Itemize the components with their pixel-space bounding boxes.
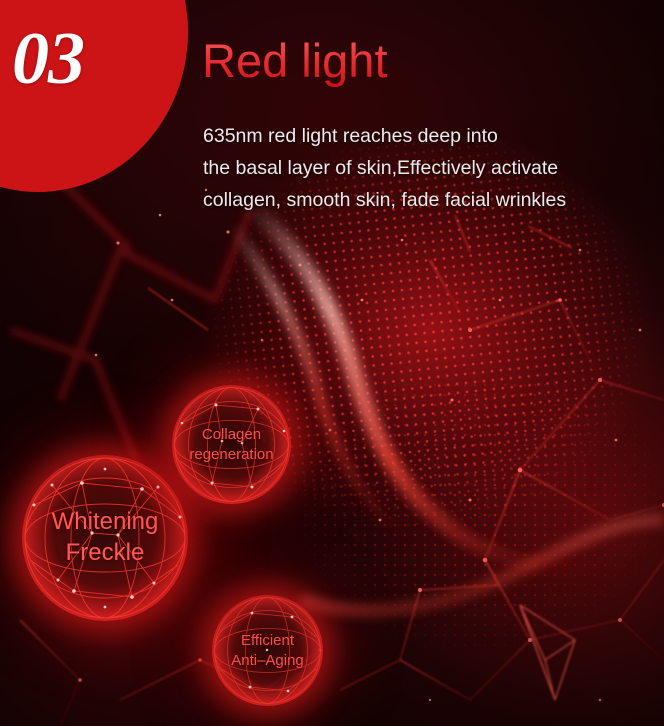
orb-line-2: Anti–Aging [231,652,304,669]
orb-line-1: Collagen [202,426,261,443]
description-line-3: collagen, smooth skin, fade facial wrink… [203,184,664,216]
orb-line-1: Whitening [52,508,159,535]
step-number: 03 [12,22,84,96]
orb-label-efficient-anti-aging: Efficient Anti–Aging [231,631,304,670]
description-text: 635nm red light reaches deep into the ba… [203,120,664,216]
orb-line-2: Freckle [66,539,145,566]
orb-line-1: Efficient [241,632,294,649]
benefit-orb-efficient-anti-aging: Efficient Anti–Aging [212,595,323,706]
orb-label-collagen-regeneration: Collagen regeneration [189,425,273,464]
red-light-promo-banner: 03 Red light 635nm red light reaches dee… [0,0,664,726]
orb-label-whitening-freckle: Whitening Freckle [52,507,159,568]
description-line-1: 635nm red light reaches deep into [203,120,664,152]
benefit-orb-whitening-freckle: Whitening Freckle [22,455,188,621]
orb-line-2: regeneration [189,446,273,463]
benefit-orb-collagen-regeneration: Collagen regeneration [172,385,291,504]
background-halftone-secondary [300,380,664,726]
page-title: Red light [202,36,388,87]
description-line-2: the basal layer of skin,Effectively acti… [203,152,664,184]
